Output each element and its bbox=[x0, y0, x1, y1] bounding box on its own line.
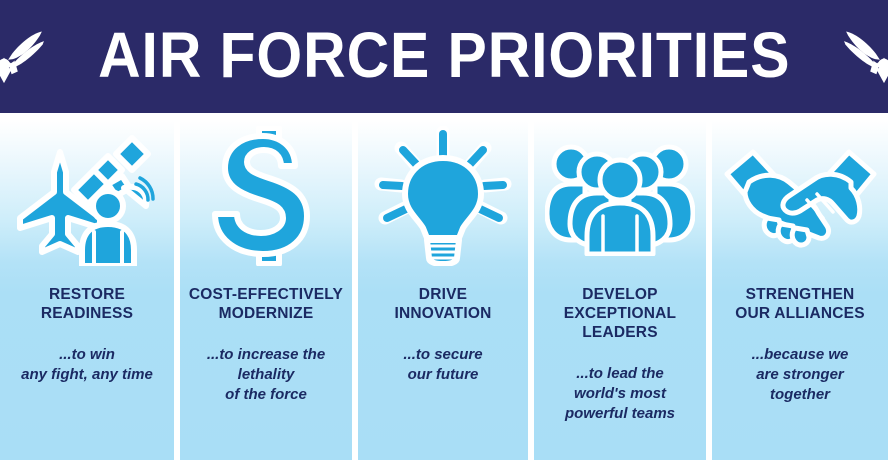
priority-title: STRENGTHEN OUR ALLIANCES bbox=[731, 285, 868, 323]
priority-columns: RESTORE READINESS ...to win any fight, a… bbox=[0, 113, 888, 460]
priority-subtitle: ...to secure our future bbox=[399, 345, 486, 385]
priority-subtitle: ...because we are stronger together bbox=[748, 345, 853, 405]
priority-title: RESTORE READINESS bbox=[37, 285, 137, 323]
group-of-people-icon bbox=[534, 121, 706, 271]
priority-column-drive-innovation[interactable]: DRIVE INNOVATION ...to secure our future bbox=[358, 113, 528, 460]
dollar-sign-icon bbox=[180, 121, 352, 271]
priority-column-develop-exceptional-leaders[interactable]: DEVELOP EXCEPTIONAL LEADERS ...to lead t… bbox=[534, 113, 706, 460]
page-title: AIR FORCE PRIORITIES bbox=[98, 23, 790, 91]
poster-header: AIR FORCE PRIORITIES bbox=[0, 0, 888, 113]
handshake-icon bbox=[712, 121, 888, 271]
priority-subtitle: ...to lead the world's most powerful tea… bbox=[561, 364, 679, 424]
air-force-wings-logo bbox=[842, 26, 888, 88]
priority-title: DEVELOP EXCEPTIONAL LEADERS bbox=[560, 285, 680, 342]
lightbulb-icon bbox=[358, 121, 528, 271]
priority-column-cost-effectively-modernize[interactable]: COST-EFFECTIVELY MODERNIZE ...to increas… bbox=[180, 113, 352, 460]
air-force-priorities-poster: AIR FORCE PRIORITIES bbox=[0, 0, 888, 460]
priority-title: DRIVE INNOVATION bbox=[390, 285, 495, 323]
priority-title: COST-EFFECTIVELY MODERNIZE bbox=[185, 285, 347, 323]
priority-subtitle: ...to increase the lethality of the forc… bbox=[203, 345, 329, 405]
priority-column-strengthen-our-alliances[interactable]: STRENGTHEN OUR ALLIANCES ...because we a… bbox=[712, 113, 888, 460]
priority-column-restore-readiness[interactable]: RESTORE READINESS ...to win any fight, a… bbox=[0, 113, 174, 460]
air-force-wings-logo bbox=[0, 26, 46, 88]
jet-satellite-airman-icon bbox=[0, 121, 174, 271]
priority-subtitle: ...to win any fight, any time bbox=[17, 345, 157, 385]
